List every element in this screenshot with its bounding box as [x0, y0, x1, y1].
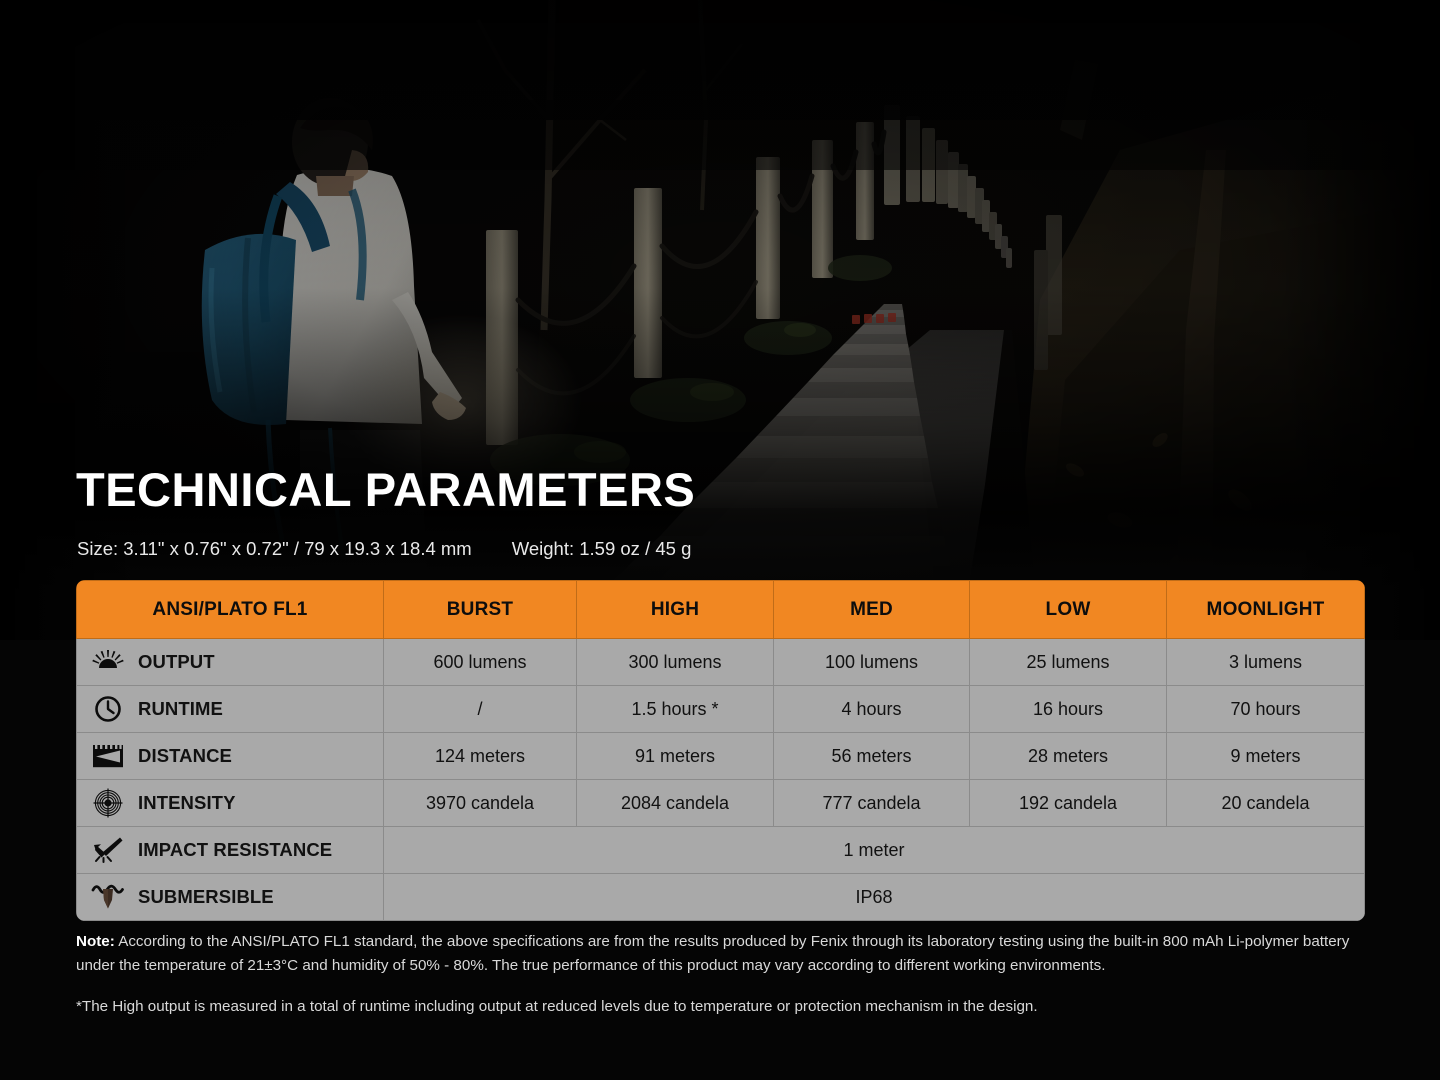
cell-intensity-moonlight: 20 candela	[1167, 780, 1365, 827]
row-label-impact-resistance: IMPACT RESISTANCE	[77, 827, 384, 874]
row-label-runtime: RUNTIME	[77, 686, 384, 733]
table-row: RUNTIME / 1.5 hours * 4 hours 16 hours 7…	[77, 686, 1365, 733]
row-label-distance: DISTANCE	[77, 733, 384, 780]
table-header-row: ANSI/PLATO FL1 BURST HIGH MED LOW MOONLI…	[77, 581, 1365, 639]
submersible-icon	[91, 882, 125, 912]
note-paragraph: Note: According to the ANSI/PLATO FL1 st…	[76, 930, 1366, 978]
size-label: Size: 3.11" x 0.76" x 0.72" / 79 x 19.3 …	[77, 538, 472, 559]
page-title: TECHNICAL PARAMETERS	[76, 466, 695, 513]
table-row: SUBMERSIBLE IP68	[77, 874, 1365, 921]
table-row: DISTANCE 124 meters 91 meters 56 meters …	[77, 733, 1365, 780]
size-weight-line: Size: 3.11" x 0.76" x 0.72" / 79 x 19.3 …	[77, 538, 691, 560]
cell-distance-med: 56 meters	[774, 733, 970, 780]
footnote-paragraph: *The High output is measured in a total …	[76, 995, 1366, 1019]
column-header-moonlight: MOONLIGHT	[1167, 581, 1365, 639]
cell-intensity-med: 777 candela	[774, 780, 970, 827]
note-prefix: Note:	[76, 933, 115, 950]
weight-label: Weight: 1.59 oz / 45 g	[512, 538, 692, 559]
cell-runtime-high: 1.5 hours *	[577, 686, 774, 733]
cell-impact-resistance-value: 1 meter	[384, 827, 1365, 874]
beam-distance-icon	[91, 741, 125, 771]
cell-output-med: 100 lumens	[774, 639, 970, 686]
row-label-submersible: SUBMERSIBLE	[77, 874, 384, 921]
table-row: OUTPUT 600 lumens 300 lumens 100 lumens …	[77, 639, 1365, 686]
cell-runtime-low: 16 hours	[970, 686, 1167, 733]
target-intensity-icon	[91, 788, 125, 818]
cell-runtime-med: 4 hours	[774, 686, 970, 733]
row-label-text: OUTPUT	[138, 651, 215, 673]
column-header-standard: ANSI/PLATO FL1	[77, 581, 384, 639]
cell-runtime-burst: /	[384, 686, 577, 733]
row-label-text: DISTANCE	[138, 745, 232, 767]
cell-submersible-value: IP68	[384, 874, 1365, 921]
column-header-high: HIGH	[577, 581, 774, 639]
impact-drop-icon	[91, 835, 125, 865]
notes-block: Note: According to the ANSI/PLATO FL1 st…	[76, 930, 1366, 1019]
cell-distance-high: 91 meters	[577, 733, 774, 780]
cell-intensity-burst: 3970 candela	[384, 780, 577, 827]
column-header-low: LOW	[970, 581, 1167, 639]
cell-output-moonlight: 3 lumens	[1167, 639, 1365, 686]
column-header-burst: BURST	[384, 581, 577, 639]
cell-distance-moonlight: 9 meters	[1167, 733, 1365, 780]
cell-intensity-low: 192 candela	[970, 780, 1167, 827]
row-label-text: IMPACT RESISTANCE	[138, 839, 332, 861]
cell-distance-burst: 124 meters	[384, 733, 577, 780]
table-row: INTENSITY 3970 candela 2084 candela 777 …	[77, 780, 1365, 827]
column-header-med: MED	[774, 581, 970, 639]
cell-output-low: 25 lumens	[970, 639, 1167, 686]
row-label-intensity: INTENSITY	[77, 780, 384, 827]
note-body: According to the ANSI/PLATO FL1 standard…	[76, 933, 1349, 974]
row-label-output: OUTPUT	[77, 639, 384, 686]
cell-output-burst: 600 lumens	[384, 639, 577, 686]
table-row: IMPACT RESISTANCE 1 meter	[77, 827, 1365, 874]
clock-icon	[91, 694, 125, 724]
cell-distance-low: 28 meters	[970, 733, 1167, 780]
row-label-text: RUNTIME	[138, 698, 223, 720]
technical-parameters-page: TECHNICAL PARAMETERS Size: 3.11" x 0.76"…	[0, 0, 1440, 1080]
table-body: OUTPUT 600 lumens 300 lumens 100 lumens …	[77, 639, 1365, 921]
cell-intensity-high: 2084 candela	[577, 780, 774, 827]
table-header: ANSI/PLATO FL1 BURST HIGH MED LOW MOONLI…	[77, 581, 1365, 639]
row-label-text: INTENSITY	[138, 792, 236, 814]
sunburst-icon	[91, 647, 125, 677]
cell-output-high: 300 lumens	[577, 639, 774, 686]
specifications-table: ANSI/PLATO FL1 BURST HIGH MED LOW MOONLI…	[76, 580, 1365, 921]
row-label-text: SUBMERSIBLE	[138, 886, 274, 908]
cell-runtime-moonlight: 70 hours	[1167, 686, 1365, 733]
